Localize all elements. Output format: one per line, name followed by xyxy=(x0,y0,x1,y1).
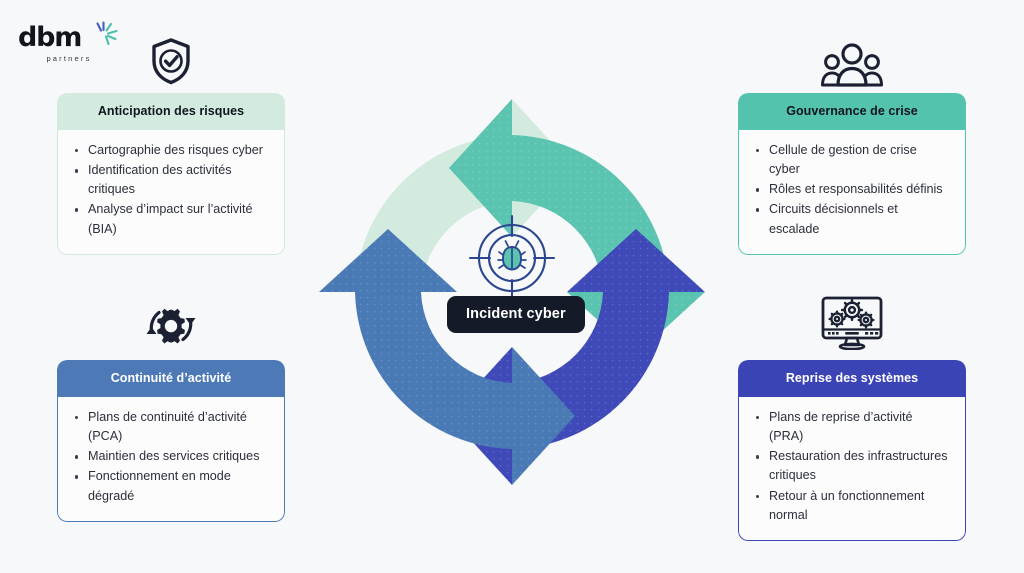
card-continuite[interactable]: Continuité d’activité Plans de continuit… xyxy=(57,360,285,522)
bug-target-icon xyxy=(470,216,554,300)
card-box: Anticipation des risques Cartographie de… xyxy=(57,93,285,255)
card-body: Cellule de gestion de crise cyber Rôles … xyxy=(738,130,966,255)
diagram-canvas: dbm partners Anticipation des ri xyxy=(0,0,1024,573)
list-item: Fonctionnement en mode dégradé xyxy=(88,467,268,505)
list-item: Cartographie des risques cyber xyxy=(88,141,268,160)
card-title: Reprise des systèmes xyxy=(738,360,966,397)
list-item: Restauration des infrastructures critiqu… xyxy=(769,447,949,485)
shield-check-icon xyxy=(57,33,285,85)
list-item: Plans de reprise d’activité (PRA) xyxy=(769,408,949,446)
card-anticipation[interactable]: Anticipation des risques Cartographie de… xyxy=(57,93,285,255)
card-body: Cartographie des risques cyber Identific… xyxy=(57,130,285,255)
monitor-gears-icon xyxy=(738,298,966,350)
card-title: Gouvernance de crise xyxy=(738,93,966,130)
card-box: Reprise des systèmes Plans de reprise d’… xyxy=(738,360,966,541)
card-reprise[interactable]: Reprise des systèmes Plans de reprise d’… xyxy=(738,360,966,541)
list-item: Rôles et responsabilités définis xyxy=(769,180,949,199)
list-item: Analyse d’impact sur l’activité (BIA) xyxy=(88,200,268,238)
card-title: Continuité d’activité xyxy=(57,360,285,397)
list-item: Plans de continuité d’activité (PCA) xyxy=(88,408,268,446)
card-box: Gouvernance de crise Cellule de gestion … xyxy=(738,93,966,255)
incident-label: Incident cyber xyxy=(447,296,585,333)
list-item: Retour à un fonctionnement normal xyxy=(769,487,949,525)
list-item: Circuits décisionnels et escalade xyxy=(769,200,949,238)
list-item: Cellule de gestion de crise cyber xyxy=(769,141,949,179)
list-item: Maintien des services critiques xyxy=(88,447,268,466)
cycle-arrow-reprise xyxy=(449,229,705,485)
list-item: Identification des activités critiques xyxy=(88,161,268,199)
cycle-arrow-continuite xyxy=(319,229,575,485)
card-box: Continuité d’activité Plans de continuit… xyxy=(57,360,285,522)
cycle-diagram xyxy=(303,86,721,486)
card-body: Plans de reprise d’activité (PRA) Restau… xyxy=(738,397,966,541)
gear-refresh-icon xyxy=(57,300,285,352)
people-group-icon xyxy=(738,35,966,87)
card-body: Plans de continuité d’activité (PCA) Mai… xyxy=(57,397,285,522)
card-title: Anticipation des risques xyxy=(57,93,285,130)
card-gouvernance[interactable]: Gouvernance de crise Cellule de gestion … xyxy=(738,93,966,255)
